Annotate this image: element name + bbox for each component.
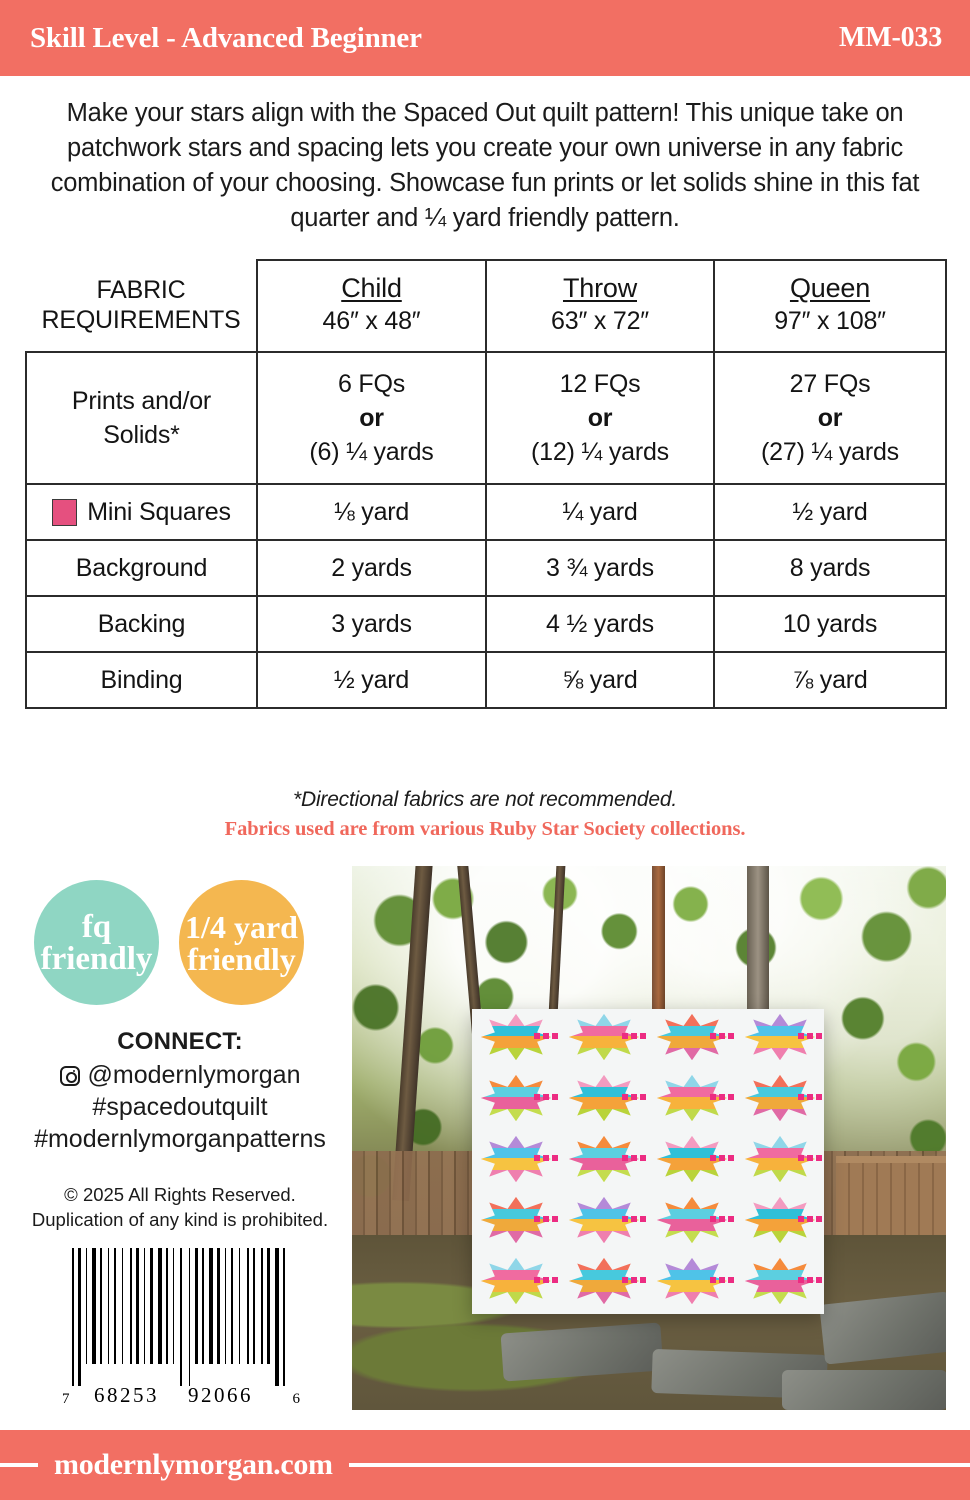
website-url[interactable]: modernlymorgan.com [38, 1448, 349, 1482]
badge-group: fq friendly 1/4 yard friendly [30, 880, 330, 1005]
skill-level-text: Skill Level - Advanced Beginner [30, 22, 422, 55]
quilt-star-block [560, 1009, 648, 1070]
badge-line2: friendly [41, 943, 153, 975]
size-name: Child [264, 273, 479, 304]
directional-footnote: *Directional fabrics are not recommended… [0, 788, 970, 812]
mini-squares-motif [798, 1033, 822, 1039]
pattern-code: MM-033 [839, 22, 942, 54]
fq-count: 6 FQs [338, 370, 405, 398]
connect-block: CONNECT: @modernlymorgan #spacedoutquilt… [10, 1028, 350, 1155]
quilt-star-block [648, 1192, 736, 1253]
cell-backing-throw: 4 ½ yards [486, 596, 714, 652]
mini-squares-motif [534, 1216, 558, 1222]
quilt-star-block [472, 1070, 560, 1131]
row-label-line2: Solids* [33, 418, 250, 452]
mini-squares-motif [622, 1277, 646, 1283]
quilt-star-block [648, 1009, 736, 1070]
cell-prints-child: 6 FQs or (6) ¼ yards [257, 352, 486, 484]
barcode-check-digit: 6 [293, 1391, 301, 1408]
header-bar: Skill Level - Advanced Beginner MM-033 [0, 0, 970, 76]
size-header-child: Child 46″ x 48″ [257, 260, 486, 352]
quilt-star-block [472, 1192, 560, 1253]
row-label-binding: Binding [26, 652, 257, 708]
quilt-star-block [648, 1070, 736, 1131]
or-label: or [721, 401, 939, 435]
mini-squares-motif [622, 1216, 646, 1222]
mini-squares-color-swatch-icon [52, 499, 77, 526]
size-name: Queen [721, 273, 939, 304]
quilt-star-block [560, 1131, 648, 1192]
instagram-icon [60, 1066, 80, 1086]
cell-binding-queen: ⅞ yard [714, 652, 946, 708]
mini-squares-motif [622, 1155, 646, 1161]
photo-quilt [472, 1009, 824, 1314]
cell-mini-throw: ¼ yard [486, 484, 714, 540]
quarter-yard-friendly-badge: 1/4 yard friendly [179, 880, 304, 1005]
size-dims: 63″ x 72″ [493, 306, 707, 337]
badge-line2: friendly [185, 943, 298, 975]
row-label-text: Mini Squares [87, 495, 231, 529]
mini-squares-motif [798, 1277, 822, 1283]
cell-prints-queen: 27 FQs or (27) ¼ yards [714, 352, 946, 484]
barcode-group-2: 92066 [188, 1383, 253, 1408]
mini-squares-motif [534, 1033, 558, 1039]
size-header-throw: Throw 63″ x 72″ [486, 260, 714, 352]
table-row-prints-solids: Prints and/or Solids* 6 FQs or (6) ¼ yar… [26, 352, 946, 484]
size-dims: 97″ x 108″ [721, 306, 939, 337]
hashtag-modernlymorganpatterns[interactable]: #modernlymorganpatterns [10, 1123, 350, 1155]
mini-squares-motif [622, 1094, 646, 1100]
photo-stone [782, 1370, 946, 1410]
quilt-star-block [648, 1253, 736, 1314]
quilt-star-block [736, 1131, 824, 1192]
yard-count: (27) ¼ yards [761, 438, 899, 466]
or-label: or [493, 401, 707, 435]
hashtag-spacedoutquilt[interactable]: #spacedoutquilt [10, 1091, 350, 1123]
quilt-star-block [560, 1192, 648, 1253]
badge-line1: 1/4 yard [185, 911, 298, 943]
size-header-queen: Queen 97″ x 108″ [714, 260, 946, 352]
cell-background-queen: 8 yards [714, 540, 946, 596]
cell-mini-child: ⅛ yard [257, 484, 486, 540]
row-label-prints-solids: Prints and/or Solids* [26, 352, 257, 484]
quilt-star-block [472, 1131, 560, 1192]
fabric-requirements-table: FABRIC REQUIREMENTS Child 46″ x 48″ Thro… [25, 259, 947, 709]
row-label-mini-squares: Mini Squares [26, 484, 257, 540]
barcode-bars [62, 1248, 300, 1386]
fq-friendly-badge: fq friendly [34, 880, 159, 1005]
copyright-line-2: Duplication of any kind is prohibited. [10, 1207, 350, 1232]
pattern-back-cover: Skill Level - Advanced Beginner MM-033 M… [0, 0, 970, 1500]
table-row-mini-squares: Mini Squares ⅛ yard ¼ yard ½ yard [26, 484, 946, 540]
mini-squares-motif [710, 1155, 734, 1161]
quilt-star-block [472, 1253, 560, 1314]
mini-squares-motif [798, 1094, 822, 1100]
yard-count: (12) ¼ yards [531, 438, 669, 466]
footer-bar: modernlymorgan.com [0, 1430, 970, 1500]
fq-count: 27 FQs [790, 370, 871, 398]
table-row-backing: Backing 3 yards 4 ½ yards 10 yards [26, 596, 946, 652]
barcode-digits: 7 68253 92066 6 [62, 1384, 300, 1408]
mini-squares-motif [710, 1094, 734, 1100]
instagram-handle[interactable]: @modernlymorgan [88, 1060, 301, 1091]
table-header-row: FABRIC REQUIREMENTS Child 46″ x 48″ Thro… [26, 260, 946, 352]
row-label-line1: Prints and/or [33, 384, 250, 418]
cell-binding-child: ½ yard [257, 652, 486, 708]
quilt-star-block [736, 1070, 824, 1131]
mini-squares-motif [798, 1216, 822, 1222]
quilt-star-block [736, 1009, 824, 1070]
barcode-lead-digit: 7 [62, 1391, 70, 1408]
mini-squares-motif [710, 1216, 734, 1222]
photo-stone [819, 1291, 946, 1364]
row-label-backing: Backing [26, 596, 257, 652]
quilt-star-grid [472, 1009, 824, 1314]
table-corner-label: FABRIC REQUIREMENTS [26, 260, 257, 352]
quilt-star-block [560, 1253, 648, 1314]
mini-squares-motif [710, 1033, 734, 1039]
mini-squares-motif [798, 1155, 822, 1161]
fq-count: 12 FQs [560, 370, 641, 398]
cell-backing-queen: 10 yards [714, 596, 946, 652]
badge-line1: fq [41, 911, 153, 943]
corner-label-line2: REQUIREMENTS [30, 305, 252, 335]
row-label-background: Background [26, 540, 257, 596]
instagram-handle-row[interactable]: @modernlymorgan [10, 1060, 350, 1091]
barcode-group-1: 68253 [94, 1383, 159, 1408]
cell-background-child: 2 yards [257, 540, 486, 596]
pattern-description: Make your stars align with the Spaced Ou… [22, 96, 948, 236]
upc-barcode: 7 68253 92066 6 [62, 1248, 300, 1408]
quilt-star-block [472, 1009, 560, 1070]
mini-squares-motif [710, 1277, 734, 1283]
corner-label-line1: FABRIC [30, 275, 252, 305]
mini-squares-motif [622, 1033, 646, 1039]
fabrics-credit-footnote: Fabrics used are from various Ruby Star … [0, 818, 970, 841]
quilt-photo [352, 866, 946, 1410]
cell-backing-child: 3 yards [257, 596, 486, 652]
copyright-line-1: © 2025 All Rights Reserved. [10, 1182, 350, 1207]
mini-squares-motif [534, 1155, 558, 1161]
cell-binding-throw: ⅝ yard [486, 652, 714, 708]
quilt-star-block [736, 1192, 824, 1253]
footer-rule-left [0, 1463, 38, 1467]
cell-mini-queen: ½ yard [714, 484, 946, 540]
table-row-binding: Binding ½ yard ⅝ yard ⅞ yard [26, 652, 946, 708]
quilt-star-block [560, 1070, 648, 1131]
cell-background-throw: 3 ¾ yards [486, 540, 714, 596]
or-label: or [264, 401, 479, 435]
table-row-background: Background 2 yards 3 ¾ yards 8 yards [26, 540, 946, 596]
copyright-block: © 2025 All Rights Reserved. Duplication … [10, 1182, 350, 1232]
quilt-star-block [648, 1131, 736, 1192]
size-name: Throw [493, 273, 707, 304]
quilt-star-block [736, 1253, 824, 1314]
mini-squares-motif [534, 1094, 558, 1100]
yard-count: (6) ¼ yards [309, 438, 433, 466]
mini-squares-motif [534, 1277, 558, 1283]
size-dims: 46″ x 48″ [264, 306, 479, 337]
cell-prints-throw: 12 FQs or (12) ¼ yards [486, 352, 714, 484]
connect-title: CONNECT: [10, 1028, 350, 1056]
footer-rule-right [349, 1463, 970, 1467]
